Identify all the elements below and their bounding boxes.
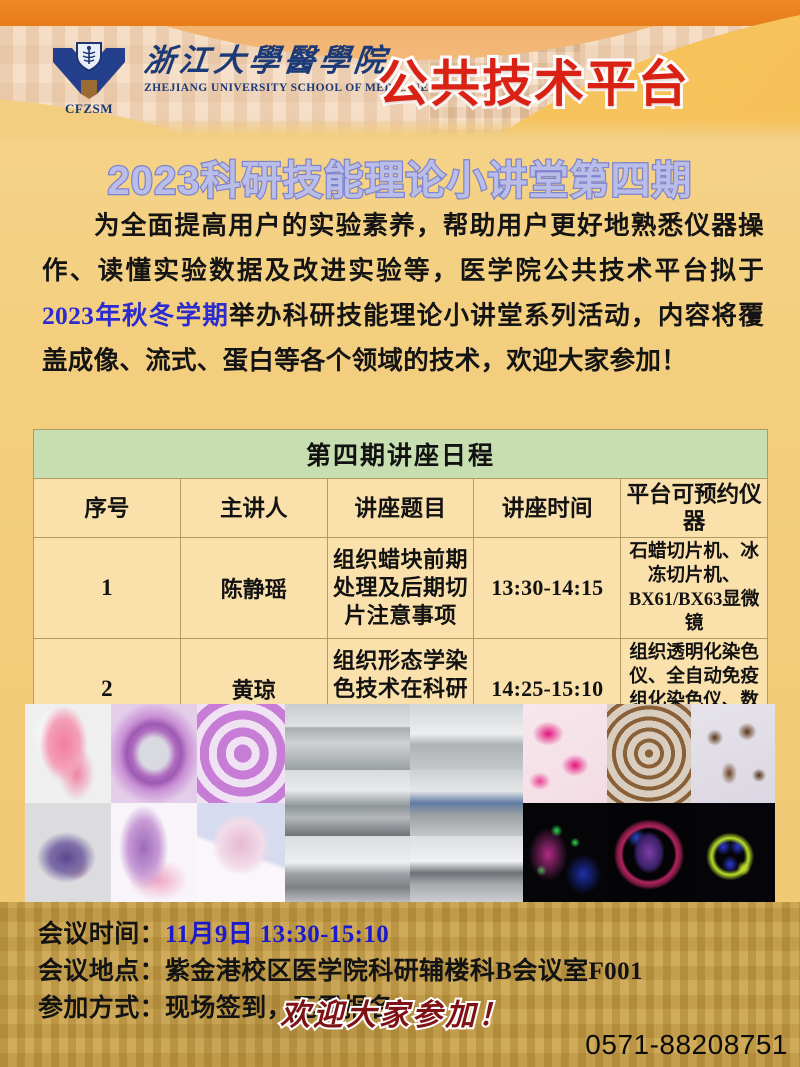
welcome-slogan: 欢迎大家参加！ — [280, 990, 511, 1034]
gallery-column-stain-3 — [691, 704, 775, 902]
zju-medicine-shield-logo: CFZSM — [48, 42, 130, 118]
gallery-image-histology-he-joint — [111, 803, 197, 902]
column-header-no: 序号 — [34, 479, 181, 538]
gallery-image-histology-he-embryo — [25, 803, 111, 902]
schedule-header-row: 序号 主讲人 讲座题目 讲座时间 平台可预约仪器 — [34, 479, 768, 538]
column-header-instruments: 平台可预约仪器 — [621, 479, 768, 538]
gallery-column-stain-1 — [523, 704, 607, 902]
meeting-place-label: 会议地点： — [38, 958, 165, 985]
platform-title: 公共技术平台 — [378, 44, 690, 116]
header-orange-band — [0, 0, 800, 26]
column-header-topic: 讲座题目 — [327, 479, 474, 538]
cell-topic: 组织蜡块前期处理及后期切片注意事项 — [327, 538, 474, 639]
gallery-column-histology-1 — [25, 704, 111, 902]
gallery-image-ihc-brown-lung — [691, 704, 775, 803]
column-header-speaker: 主讲人 — [180, 479, 327, 538]
cell-instruments: 石蜡切片机、冰冻切片机、BX61/BX63显微镜 — [621, 538, 768, 639]
gallery-column-lab-2 — [410, 704, 523, 902]
gallery-image-lab-room-microtome — [410, 704, 523, 770]
gallery-image-histology-he-lung — [197, 803, 285, 902]
gallery-image-lab-room-benchtop — [285, 770, 410, 836]
cell-speaker: 陈静瑶 — [180, 538, 327, 639]
gallery-column-stain-2 — [607, 704, 691, 902]
intro-paragraph-highlight: 2023年秋冬学期 — [42, 301, 229, 330]
cell-time: 13:30-14:15 — [474, 538, 621, 639]
meeting-time-line: 会议时间：11月9日 13:30-15:10 — [38, 916, 643, 953]
gallery-image-fluorescence-ring-section — [607, 803, 691, 902]
logo-abbrev-label: CFZSM — [65, 101, 113, 117]
schedule-table-wrapper: 第四期讲座日程 序号 主讲人 讲座题目 讲座时间 平台可预约仪器 1 陈静瑶 组… — [33, 429, 768, 740]
table-row: 1 陈静瑶 组织蜡块前期处理及后期切片注意事项 13:30-14:15 石蜡切片… — [34, 538, 768, 639]
gallery-image-lab-room-workstation — [410, 836, 523, 902]
gallery-image-histology-he-vessel — [111, 704, 197, 803]
cell-no: 1 — [34, 538, 181, 639]
poster-header: CFZSM 浙江大學醫學院 ZHEJIANG UNIVERSITY SCHOOL… — [0, 0, 800, 140]
meeting-place-value: 紫金港校区医学院科研辅楼科B会议室F001 — [165, 958, 643, 985]
join-method-label: 参加方式： — [38, 995, 165, 1022]
meeting-place-line: 会议地点：紫金港校区医学院科研辅楼科B会议室F001 — [38, 953, 643, 990]
schedule-caption-row: 第四期讲座日程 — [34, 430, 768, 479]
image-gallery — [25, 704, 775, 902]
gallery-image-fluorescence-glomeruli — [691, 803, 775, 902]
meeting-time-value: 11月9日 13:30-15:10 — [165, 921, 389, 948]
contact-phone: 0571-88208751 — [585, 1029, 788, 1061]
schedule-table: 第四期讲座日程 序号 主讲人 讲座题目 讲座时间 平台可预约仪器 1 陈静瑶 组… — [33, 429, 768, 740]
intro-paragraph-part1: 为全面提高用户的实验素养，帮助用户更好地熟悉仪器操作、读懂实验数据及改进实验等，… — [42, 211, 764, 285]
page-title: 2023科研技能理论小讲堂第四期 — [0, 148, 800, 206]
column-header-time: 讲座时间 — [474, 479, 621, 538]
intro-paragraph: 为全面提高用户的实验素养，帮助用户更好地熟悉仪器操作、读懂实验数据及改进实验等，… — [42, 203, 764, 383]
gallery-column-histology-2 — [111, 704, 197, 902]
header-bottom-fade — [0, 118, 800, 140]
gallery-image-lab-room-technician — [410, 770, 523, 836]
gallery-image-lab-room-fume-hoods — [285, 704, 410, 770]
chevron-shield-icon — [50, 42, 128, 100]
meeting-time-label: 会议时间： — [38, 921, 165, 948]
university-logo-block: CFZSM 浙江大學醫學院 ZHEJIANG UNIVERSITY SCHOOL… — [48, 42, 429, 118]
schedule-caption: 第四期讲座日程 — [34, 430, 768, 479]
poster-footer: 会议时间：11月9日 13:30-15:10 会议地点：紫金港校区医学院科研辅楼… — [0, 902, 800, 1067]
gallery-column-histology-3 — [197, 704, 285, 902]
gallery-image-ihc-brown-villi — [607, 704, 691, 803]
gallery-image-ihc-magenta-stain — [523, 704, 607, 803]
gallery-column-lab-1 — [285, 704, 410, 902]
gallery-image-histology-he-spiral-intestine — [197, 704, 285, 803]
gallery-image-fluorescence-green-magenta — [523, 803, 607, 902]
poster-root: CFZSM 浙江大學醫學院 ZHEJIANG UNIVERSITY SCHOOL… — [0, 0, 800, 1067]
gallery-image-lab-room-microscope-station — [285, 836, 410, 902]
gallery-image-histology-he-heart — [25, 704, 111, 803]
